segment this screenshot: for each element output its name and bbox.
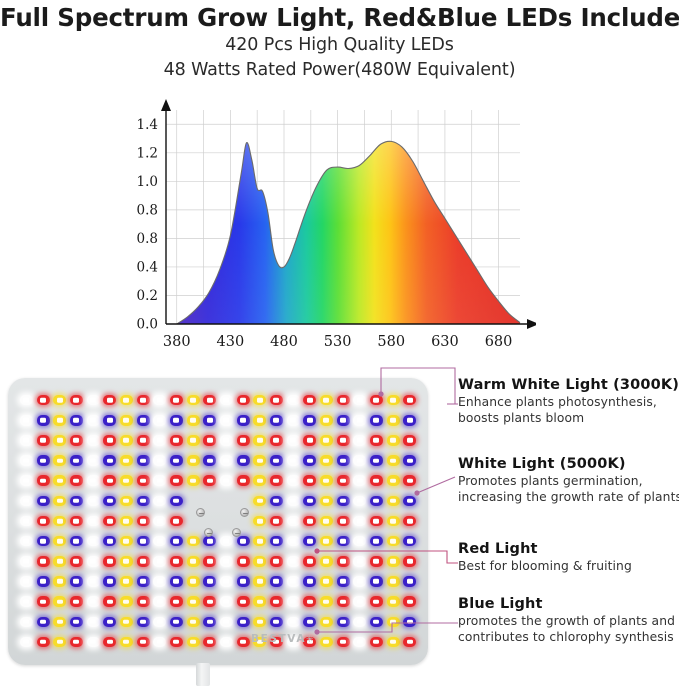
led-core: [290, 499, 296, 504]
led-white: [20, 596, 33, 607]
led-core: [373, 559, 379, 564]
x-tick-label: 430: [217, 334, 245, 350]
led-core: [340, 438, 346, 443]
brand-logo: BESTVA✳: [251, 633, 314, 645]
led-core: [173, 438, 179, 443]
header: Full Spectrum Grow Light, Red&Blue LEDs …: [0, 0, 679, 83]
led-core: [73, 499, 79, 504]
spectrum-chart-svg: 0.00.20.40.80.81.01.21.43804304805305806…: [124, 98, 536, 360]
led-core: [157, 539, 163, 544]
led-core: [223, 579, 229, 584]
led-blue: [237, 455, 250, 466]
led-blue: [403, 496, 416, 507]
led-core: [57, 559, 63, 564]
led-blue: [337, 617, 350, 628]
led-core: [373, 499, 379, 504]
led-blue: [370, 496, 383, 507]
led-core: [190, 620, 196, 625]
led-white: [153, 596, 166, 607]
led-red: [137, 596, 150, 607]
led-red: [403, 596, 416, 607]
led-core: [407, 640, 413, 645]
led-red: [170, 596, 183, 607]
led-blue: [203, 536, 216, 547]
led-blue: [303, 576, 316, 587]
led-core: [90, 539, 96, 544]
y-tick-label: 0.8: [137, 231, 158, 247]
y-tick-label: 1.2: [137, 145, 158, 161]
led-blue: [203, 415, 216, 426]
led-core: [23, 620, 29, 625]
led-core: [90, 599, 96, 604]
led-blue: [170, 415, 183, 426]
led-core: [207, 539, 213, 544]
led-core: [123, 398, 129, 403]
led-core: [307, 398, 313, 403]
led-red: [70, 435, 83, 446]
led-core: [273, 398, 279, 403]
led-core: [23, 438, 29, 443]
led-yellow: [53, 617, 66, 628]
led-blue: [403, 576, 416, 587]
led-core: [173, 458, 179, 463]
led-core: [390, 539, 396, 544]
led-yellow: [387, 617, 400, 628]
led-white: [287, 596, 300, 607]
led-white: [287, 475, 300, 486]
led-red: [303, 516, 316, 527]
led-yellow: [253, 617, 266, 628]
led-yellow: [320, 395, 333, 406]
led-white: [20, 475, 33, 486]
led-blue: [303, 536, 316, 547]
led-core: [107, 559, 113, 564]
led-core: [173, 640, 179, 645]
led-core: [73, 478, 79, 483]
led-blue: [170, 576, 183, 587]
led-core: [257, 599, 263, 604]
callout-body: promotes the growth of plants and contri…: [458, 614, 679, 645]
led-white: [153, 455, 166, 466]
led-core: [40, 438, 46, 443]
led-core: [107, 579, 113, 584]
led-core: [157, 458, 163, 463]
led-core: [323, 478, 329, 483]
led-red: [303, 395, 316, 406]
led-core: [373, 519, 379, 524]
led-core: [157, 478, 163, 483]
led-core: [173, 559, 179, 564]
callout-red: Red Light Best for blooming & fruiting: [458, 540, 679, 575]
led-core: [157, 640, 163, 645]
led-core: [357, 499, 363, 504]
led-red: [70, 395, 83, 406]
led-core: [73, 640, 79, 645]
led-white: [220, 395, 233, 406]
led-white: [353, 576, 366, 587]
led-core: [373, 539, 379, 544]
led-core: [90, 519, 96, 524]
led-core: [173, 539, 179, 544]
led-red: [170, 435, 183, 446]
led-blue: [403, 415, 416, 426]
led-white: [287, 576, 300, 587]
y-tick-label: 0.2: [137, 288, 158, 304]
led-core: [340, 539, 346, 544]
led-yellow: [187, 576, 200, 587]
led-core: [373, 418, 379, 423]
led-white: [153, 415, 166, 426]
led-white: [153, 637, 166, 648]
led-core: [140, 499, 146, 504]
led-red: [270, 516, 283, 527]
led-core: [73, 398, 79, 403]
led-red: [137, 435, 150, 446]
led-core: [207, 458, 213, 463]
led-core: [290, 620, 296, 625]
led-core: [340, 599, 346, 604]
led-red: [370, 435, 383, 446]
led-core: [273, 599, 279, 604]
led-core: [273, 579, 279, 584]
led-white: [287, 617, 300, 628]
led-core: [123, 640, 129, 645]
led-core: [290, 519, 296, 524]
led-white: [220, 415, 233, 426]
led-core: [73, 599, 79, 604]
led-core: [40, 579, 46, 584]
led-blue: [403, 455, 416, 466]
led-yellow: [120, 516, 133, 527]
led-red: [303, 556, 316, 567]
led-red: [403, 435, 416, 446]
led-blue: [370, 536, 383, 547]
led-core: [223, 398, 229, 403]
led-red: [137, 516, 150, 527]
led-red: [37, 475, 50, 486]
led-red: [303, 475, 316, 486]
led-core: [357, 620, 363, 625]
led-white: [87, 536, 100, 547]
led-core: [223, 599, 229, 604]
led-core: [157, 559, 163, 564]
led-core: [190, 478, 196, 483]
led-core: [407, 478, 413, 483]
led-core: [57, 398, 63, 403]
led-core: [73, 559, 79, 564]
led-core: [40, 478, 46, 483]
led-core: [240, 559, 246, 564]
led-panel-section: BESTVA✳ Warm White Light (3000K) Enhance…: [0, 360, 679, 686]
led-core: [57, 519, 63, 524]
product-infographic: Full Spectrum Grow Light, Red&Blue LEDs …: [0, 0, 679, 686]
led-red: [337, 395, 350, 406]
led-yellow: [120, 435, 133, 446]
led-yellow: [253, 415, 266, 426]
led-core: [257, 620, 263, 625]
led-white: [87, 496, 100, 507]
led-blue: [70, 415, 83, 426]
led-core: [173, 599, 179, 604]
led-white: [153, 395, 166, 406]
led-red: [237, 395, 250, 406]
led-core: [307, 519, 313, 524]
led-blue: [103, 496, 116, 507]
led-red: [370, 637, 383, 648]
led-core: [23, 478, 29, 483]
led-core: [107, 499, 113, 504]
led-core: [140, 579, 146, 584]
led-white: [353, 415, 366, 426]
led-blue: [137, 415, 150, 426]
led-yellow: [53, 516, 66, 527]
led-core: [123, 620, 129, 625]
led-core: [157, 499, 163, 504]
led-white: [220, 637, 233, 648]
led-core: [257, 418, 263, 423]
led-blue: [403, 617, 416, 628]
led-core: [273, 478, 279, 483]
led-yellow: [253, 475, 266, 486]
led-yellow: [53, 536, 66, 547]
panel-screw: [204, 528, 213, 537]
led-core: [123, 499, 129, 504]
led-core: [407, 579, 413, 584]
led-red: [137, 637, 150, 648]
led-white: [353, 637, 366, 648]
led-yellow: [320, 435, 333, 446]
callout-title: Red Light: [458, 540, 679, 559]
led-yellow: [120, 617, 133, 628]
led-blue: [37, 415, 50, 426]
led-red: [170, 516, 183, 527]
led-core: [157, 418, 163, 423]
led-core: [90, 499, 96, 504]
led-core: [107, 398, 113, 403]
led-red: [103, 637, 116, 648]
led-core: [73, 539, 79, 544]
led-core: [140, 398, 146, 403]
led-core: [40, 458, 46, 463]
led-core: [190, 599, 196, 604]
led-blue: [170, 536, 183, 547]
led-core: [357, 398, 363, 403]
led-yellow: [120, 637, 133, 648]
led-white: [20, 395, 33, 406]
led-red: [70, 556, 83, 567]
led-red: [337, 516, 350, 527]
led-core: [390, 499, 396, 504]
led-core: [157, 398, 163, 403]
led-white: [353, 596, 366, 607]
led-core: [223, 559, 229, 564]
led-core: [407, 458, 413, 463]
led-yellow: [53, 576, 66, 587]
led-yellow: [120, 556, 133, 567]
led-core: [140, 539, 146, 544]
led-core: [173, 398, 179, 403]
led-core: [57, 499, 63, 504]
led-core: [323, 499, 329, 504]
led-core: [140, 620, 146, 625]
led-core: [57, 438, 63, 443]
led-yellow: [253, 596, 266, 607]
led-red: [37, 556, 50, 567]
led-blue: [70, 455, 83, 466]
led-white: [353, 455, 366, 466]
led-yellow: [320, 576, 333, 587]
led-core: [290, 458, 296, 463]
led-red: [337, 435, 350, 446]
subtitle-wattage: 48 Watts Rated Power(480W Equivalent): [0, 58, 679, 83]
led-blue: [170, 617, 183, 628]
led-red: [70, 596, 83, 607]
led-blue: [237, 617, 250, 628]
led-blue: [37, 576, 50, 587]
led-white: [87, 435, 100, 446]
led-yellow: [187, 455, 200, 466]
led-core: [107, 539, 113, 544]
callout-body: Promotes plants germination, increasing …: [458, 474, 679, 505]
led-panel: BESTVA✳: [8, 378, 428, 665]
led-core: [357, 539, 363, 544]
led-core: [273, 539, 279, 544]
led-blue: [337, 536, 350, 547]
led-yellow: [387, 455, 400, 466]
led-blue: [70, 536, 83, 547]
led-blue: [103, 617, 116, 628]
led-core: [357, 418, 363, 423]
led-red: [237, 596, 250, 607]
x-tick-label: 530: [324, 334, 352, 350]
led-yellow: [253, 455, 266, 466]
led-core: [57, 458, 63, 463]
led-blue: [203, 576, 216, 587]
led-core: [57, 640, 63, 645]
led-yellow: [120, 415, 133, 426]
led-yellow: [253, 576, 266, 587]
led-yellow: [187, 596, 200, 607]
led-core: [323, 539, 329, 544]
led-red: [337, 596, 350, 607]
led-core: [23, 458, 29, 463]
led-core: [273, 559, 279, 564]
led-core: [407, 398, 413, 403]
led-core: [240, 398, 246, 403]
led-core: [323, 438, 329, 443]
led-core: [323, 599, 329, 604]
led-core: [240, 418, 246, 423]
led-core: [207, 559, 213, 564]
led-core: [290, 559, 296, 564]
led-core: [373, 478, 379, 483]
led-white: [87, 415, 100, 426]
led-core: [240, 539, 246, 544]
led-core: [340, 640, 346, 645]
led-core: [240, 579, 246, 584]
led-core: [223, 438, 229, 443]
y-tick-label: 1.0: [137, 174, 158, 190]
page-title: Full Spectrum Grow Light, Red&Blue LEDs …: [0, 0, 679, 33]
callout-title: White Light (5000K): [458, 455, 679, 474]
led-core: [123, 539, 129, 544]
led-core: [357, 559, 363, 564]
led-core: [273, 620, 279, 625]
led-core: [40, 599, 46, 604]
led-blue: [70, 576, 83, 587]
led-white: [287, 536, 300, 547]
x-tick-label: 480: [270, 334, 298, 350]
led-core: [107, 458, 113, 463]
led-white: [287, 516, 300, 527]
led-core: [223, 478, 229, 483]
led-core: [257, 438, 263, 443]
callout-title: Warm White Light (3000K): [458, 376, 679, 395]
led-core: [307, 620, 313, 625]
led-yellow: [387, 435, 400, 446]
led-yellow: [187, 637, 200, 648]
led-yellow: [387, 596, 400, 607]
led-core: [90, 620, 96, 625]
led-core: [157, 579, 163, 584]
led-yellow: [387, 496, 400, 507]
led-core: [273, 458, 279, 463]
led-white: [287, 415, 300, 426]
led-white: [220, 536, 233, 547]
led-core: [23, 519, 29, 524]
led-core: [307, 539, 313, 544]
led-blue: [337, 455, 350, 466]
led-yellow: [320, 617, 333, 628]
led-red: [170, 556, 183, 567]
led-blue: [337, 576, 350, 587]
led-core: [390, 438, 396, 443]
led-core: [373, 458, 379, 463]
led-white: [87, 617, 100, 628]
led-yellow: [253, 435, 266, 446]
led-core: [407, 499, 413, 504]
led-white: [220, 576, 233, 587]
led-blue: [237, 576, 250, 587]
led-red: [103, 596, 116, 607]
led-red: [370, 596, 383, 607]
led-core: [307, 438, 313, 443]
led-red: [237, 556, 250, 567]
led-core: [157, 438, 163, 443]
led-white: [153, 576, 166, 587]
led-red: [370, 395, 383, 406]
led-red: [37, 516, 50, 527]
led-white: [87, 637, 100, 648]
led-core: [257, 478, 263, 483]
led-core: [140, 458, 146, 463]
led-core: [40, 620, 46, 625]
led-blue: [370, 617, 383, 628]
led-red: [203, 637, 216, 648]
led-core: [307, 579, 313, 584]
led-core: [157, 519, 163, 524]
led-core: [357, 579, 363, 584]
led-white: [287, 435, 300, 446]
led-white: [20, 435, 33, 446]
led-core: [207, 398, 213, 403]
led-white: [153, 435, 166, 446]
led-core: [190, 458, 196, 463]
led-core: [23, 579, 29, 584]
led-core: [273, 438, 279, 443]
led-core: [40, 418, 46, 423]
led-blue: [337, 415, 350, 426]
